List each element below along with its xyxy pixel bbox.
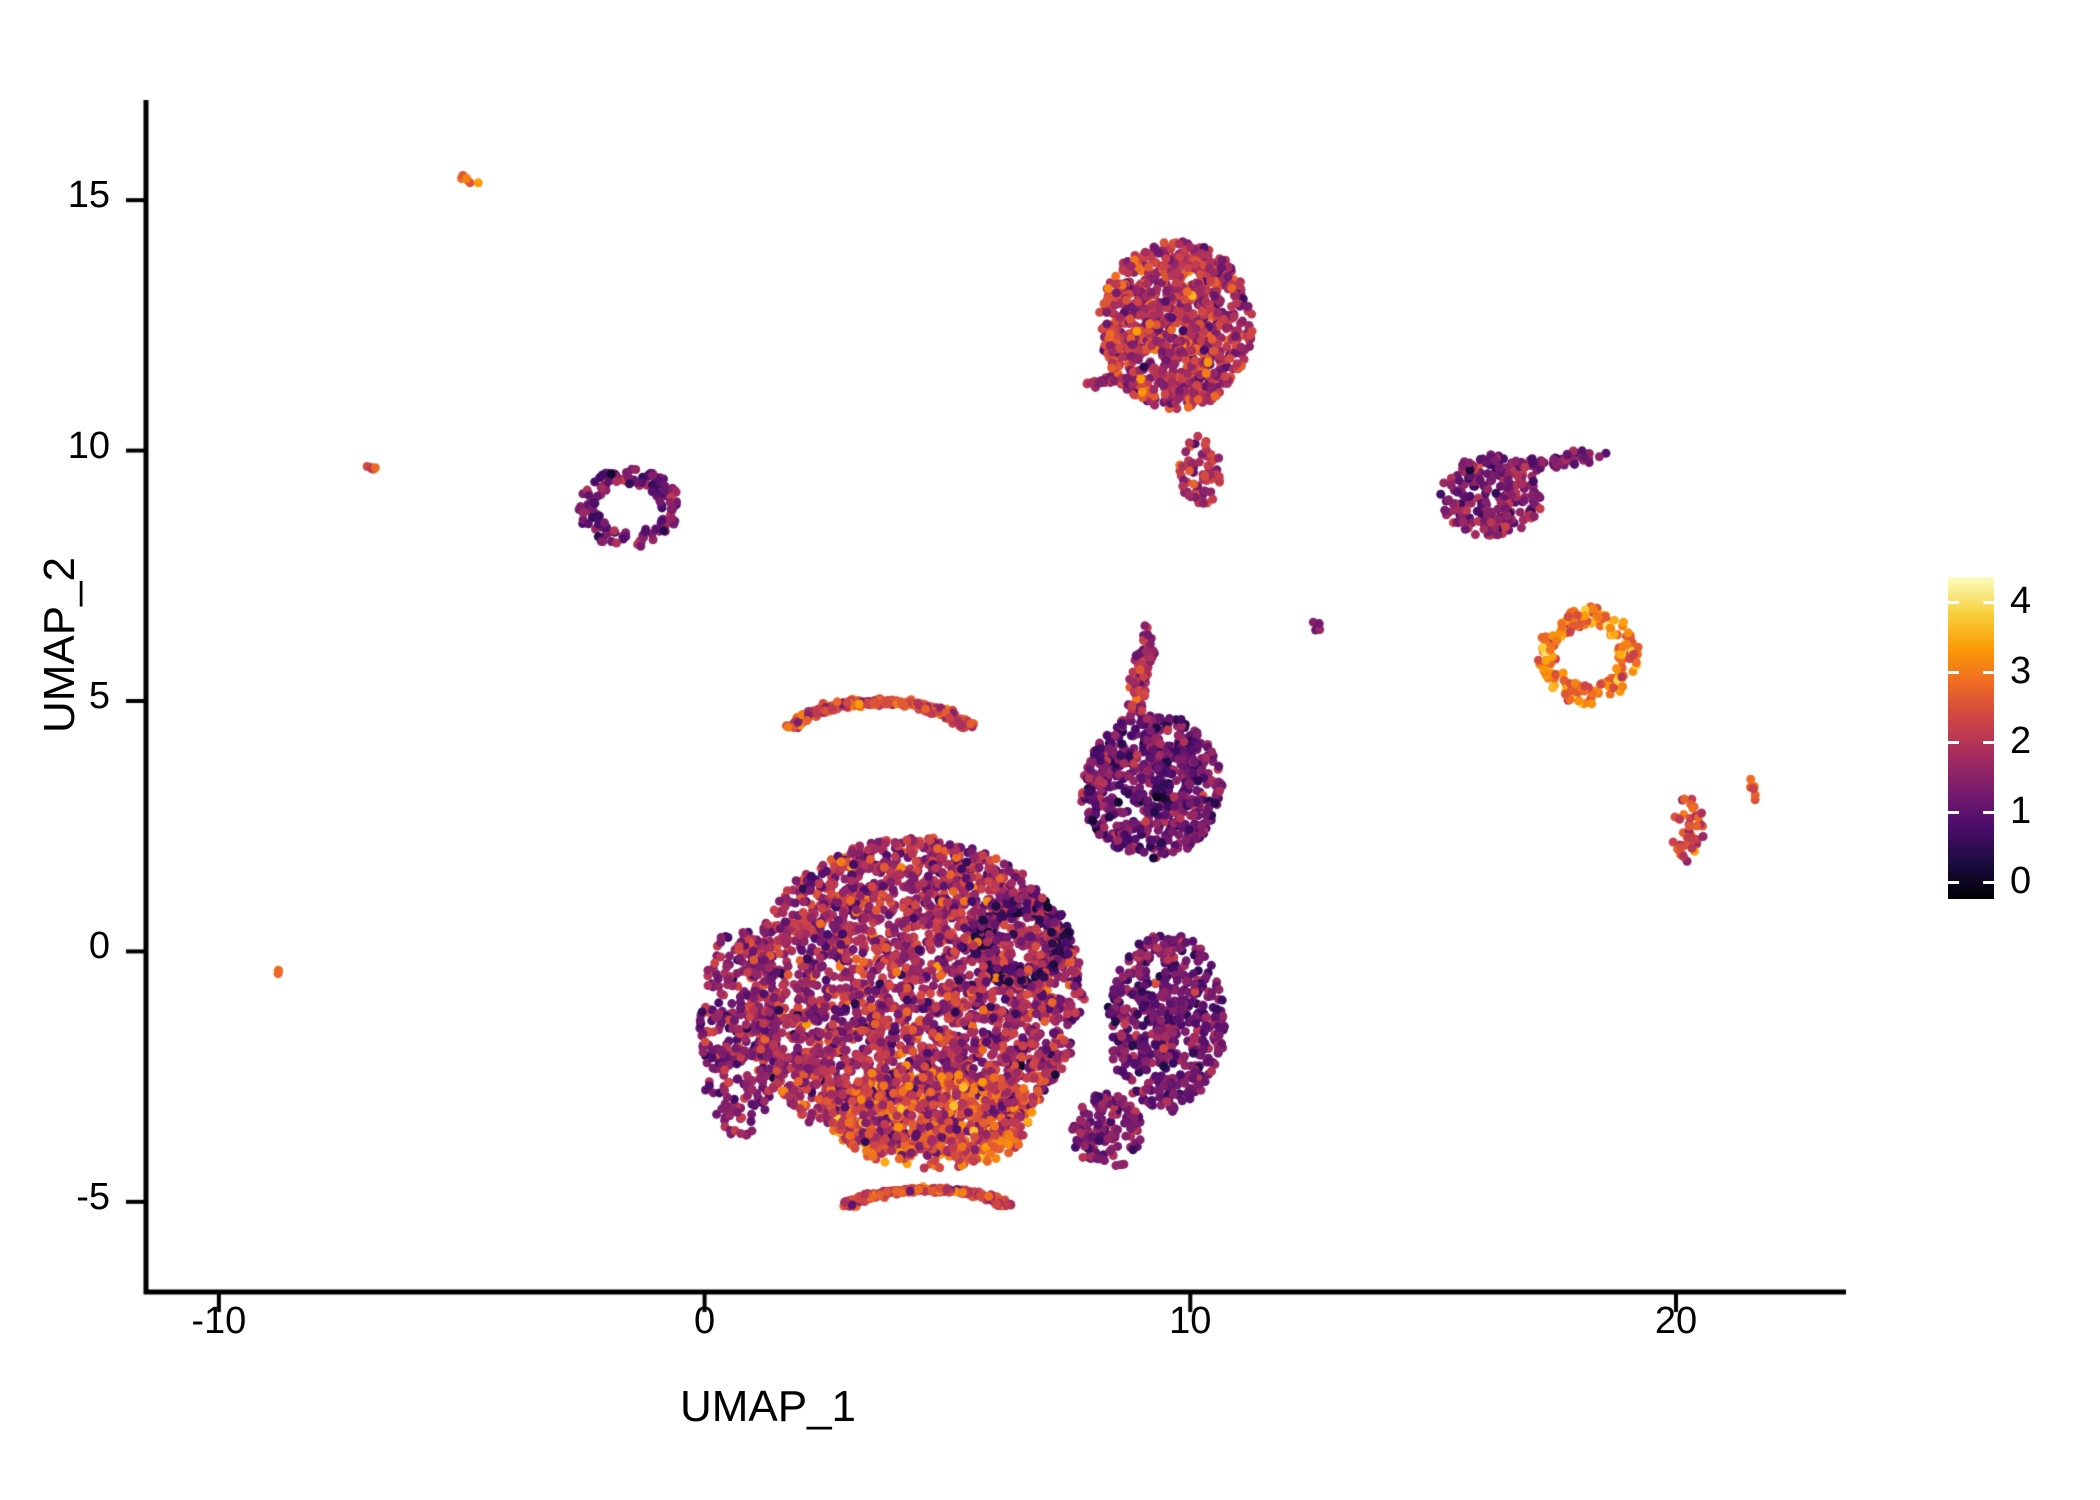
colorbar-tick-mark (1948, 601, 1959, 604)
y-tick-label: 0 (0, 925, 110, 968)
colorbar-legend[interactable]: 01234 (1948, 577, 2078, 899)
colorbar-tick-label: 3 (2010, 652, 2031, 690)
y-tick-label: -5 (0, 1176, 110, 1219)
y-axis-title: UMAP_2 (35, 295, 85, 995)
colorbar-tick-mark (1948, 741, 1959, 744)
y-tick-label: 5 (0, 675, 110, 718)
colorbar-tick-mark (1948, 811, 1959, 814)
colorbar-tick-mark (1983, 811, 1994, 814)
colorbar-gradient (1948, 577, 1994, 899)
y-tick-label: 15 (0, 174, 110, 217)
x-tick-label: 0 (625, 1300, 785, 1343)
x-tick-label: 10 (1110, 1300, 1270, 1343)
colorbar-tick-mark (1948, 881, 1959, 884)
scatter-canvas[interactable] (0, 0, 2100, 1500)
colorbar-tick-mark (1983, 741, 1994, 744)
colorbar-tick-label: 2 (2010, 722, 2031, 760)
colorbar-tick-label: 0 (2010, 862, 2031, 900)
umap-feature-plot: ANKRD28 UMAP_1 UMAP_2 -1001020 -5051015 … (0, 0, 2100, 1500)
x-axis-title: UMAP_1 (0, 1382, 1536, 1432)
x-tick-label: -10 (139, 1300, 299, 1343)
colorbar-tick-mark (1983, 671, 1994, 674)
colorbar-tick-mark (1948, 671, 1959, 674)
colorbar-tick-label: 4 (2010, 582, 2031, 620)
plot-area[interactable] (0, 0, 2100, 1500)
colorbar-tick-label: 1 (2010, 792, 2031, 830)
colorbar-tick-mark (1983, 601, 1994, 604)
y-tick-label: 10 (0, 425, 110, 468)
colorbar-tick-mark (1983, 881, 1994, 884)
x-tick-label: 20 (1596, 1300, 1756, 1343)
